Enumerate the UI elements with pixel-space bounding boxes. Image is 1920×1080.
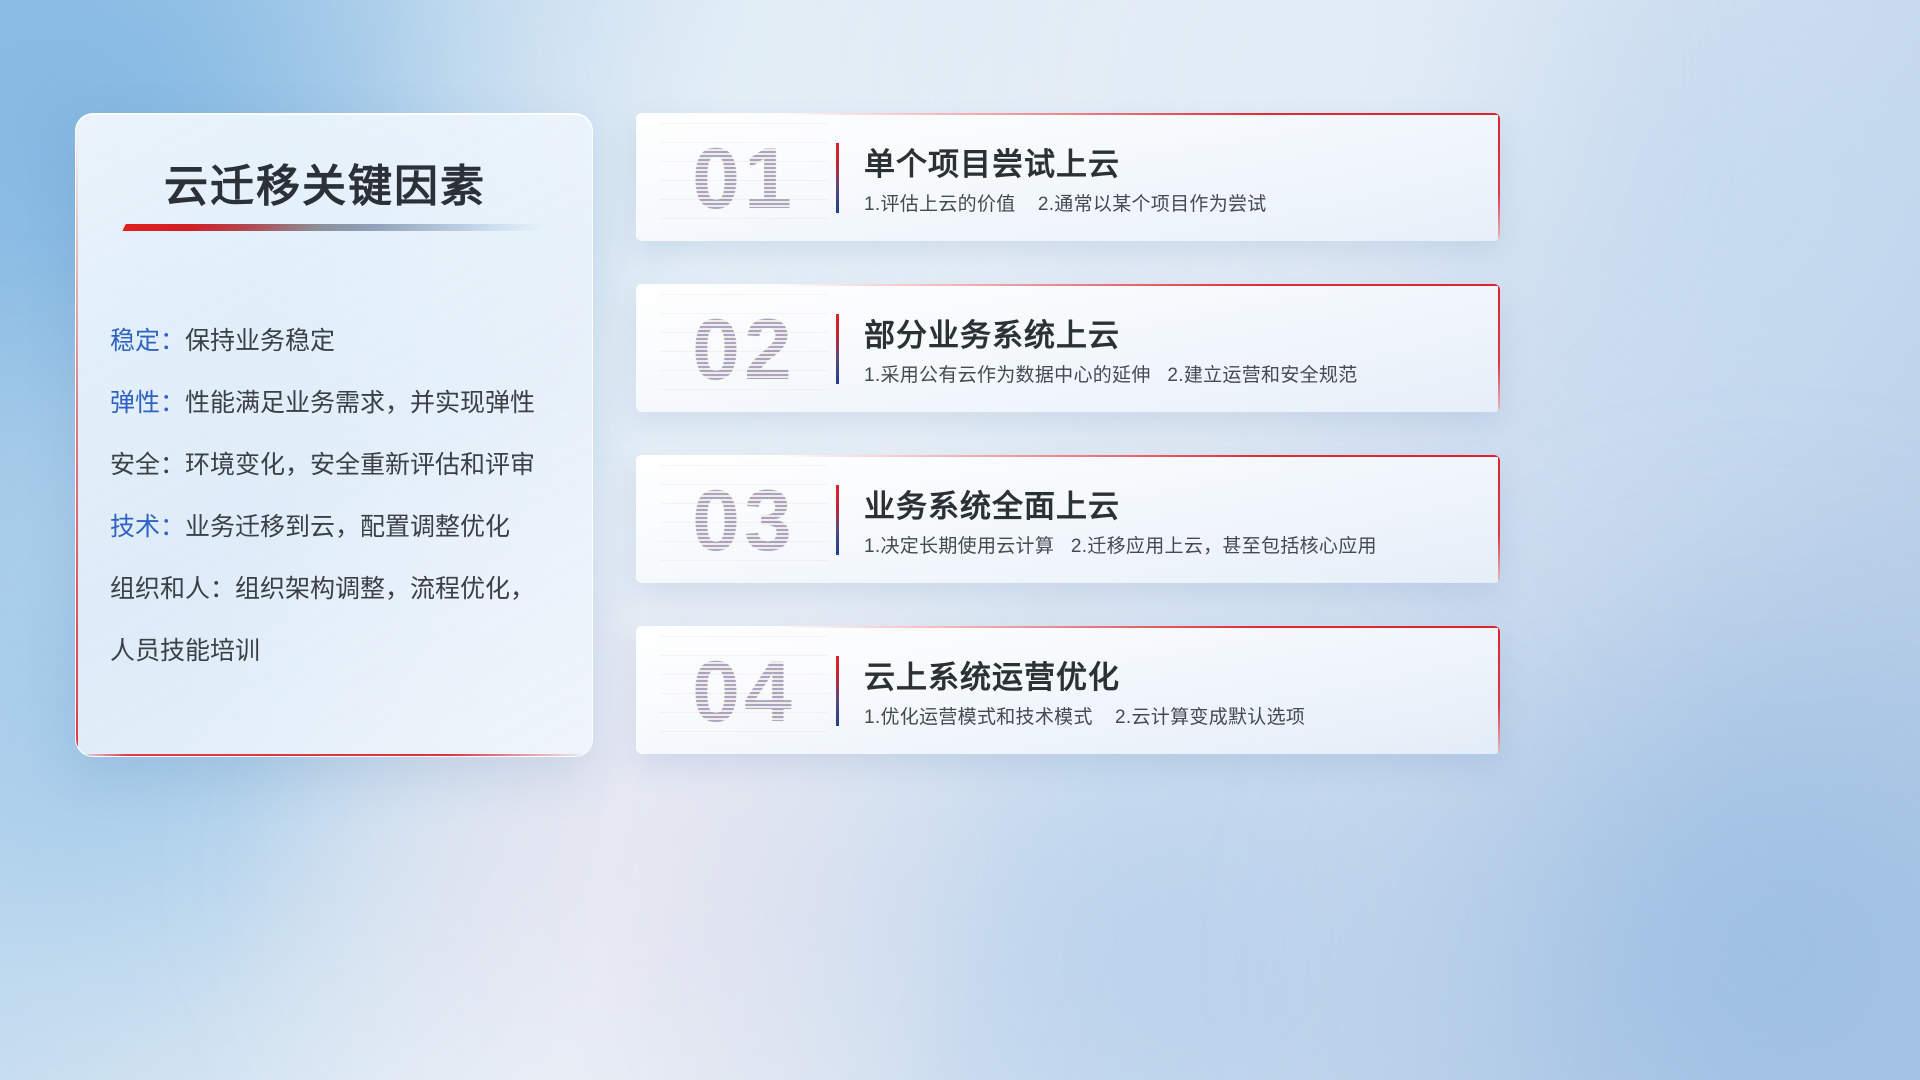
stage-description: 1.采用公有云作为数据中心的延伸 2.建立运营和安全规范 [864,360,1358,387]
title-underline-rule [122,224,547,231]
stage-card[interactable]: 01单个项目尝试上云1.评估上云的价值 2.通常以某个项目作为尝试 [636,113,1500,241]
card-right-accent [1498,113,1500,241]
key-factor-row: 稳定：保持业务稳定 [100,310,574,372]
key-factor-row: 弹性：性能满足业务需求，并实现弹性 [100,372,574,434]
stages-card-list: 01单个项目尝试上云1.评估上云的价值 2.通常以某个项目作为尝试02部分业务系… [636,113,1500,797]
stage-number-watermark: 03 [660,465,828,577]
stage-number-watermark: 04 [660,636,828,748]
card-divider-bar [836,314,839,384]
card-divider-bar [836,656,839,726]
key-factor-value: 性能满足业务需求，并实现弹性 [185,389,535,417]
key-factors-panel: 云迁移关键因素 稳定：保持业务稳定弹性：性能满足业务需求，并实现弹性安全：环境变… [75,113,593,757]
stage-description: 1.决定长期使用云计算 2.迁移应用上云，甚至包括核心应用 [864,531,1377,558]
card-top-accent [636,626,1500,628]
key-factor-label: 技术： [110,513,185,541]
key-factor-row: 技术：业务迁移到云，配置调整优化 [100,496,574,558]
card-left-highlight [636,457,637,583]
stage-title: 部分业务系统上云 [864,310,1120,355]
stage-number-text: 01 [660,123,828,235]
card-left-highlight [636,115,637,241]
key-factor-row: 人员技能培训 [100,620,574,682]
key-factor-label: 稳定： [110,327,185,355]
key-factor-value: 环境变化，安全重新评估和评审 [185,451,535,479]
card-left-highlight [636,286,637,412]
card-top-accent [636,113,1500,115]
card-top-accent [636,455,1500,457]
key-factor-row: 安全：环境变化，安全重新评估和评审 [100,434,574,496]
stage-description: 1.优化运营模式和技术模式 2.云计算变成默认选项 [864,702,1305,729]
stage-title: 业务系统全面上云 [864,481,1120,526]
stage-description: 1.评估上云的价值 2.通常以某个项目作为尝试 [864,189,1267,216]
card-top-accent [636,284,1500,286]
stage-card[interactable]: 03业务系统全面上云1.决定长期使用云计算 2.迁移应用上云，甚至包括核心应用 [636,455,1500,583]
panel-title: 云迁移关键因素 [164,150,486,214]
key-factor-value: 组织架构调整，流程优化， [235,575,535,603]
key-factor-row: 组织和人：组织架构调整，流程优化， [100,558,574,620]
key-factor-value: 业务迁移到云，配置调整优化 [185,513,510,541]
key-factor-label: 弹性： [110,389,185,417]
stage-number-text: 04 [660,636,828,748]
card-divider-bar [836,485,839,555]
stage-title: 单个项目尝试上云 [864,139,1120,184]
card-right-accent [1498,284,1500,412]
key-factor-label: 组织和人： [110,575,235,603]
stage-number-watermark: 01 [660,123,828,235]
key-factors-list: 稳定：保持业务稳定弹性：性能满足业务需求，并实现弹性安全：环境变化，安全重新评估… [100,310,574,682]
stage-number-text: 02 [660,294,828,406]
key-factor-value: 人员技能培训 [110,637,260,665]
card-left-highlight [636,628,637,754]
stage-card[interactable]: 02部分业务系统上云1.采用公有云作为数据中心的延伸 2.建立运营和安全规范 [636,284,1500,412]
stage-number-text: 03 [660,465,828,577]
card-divider-bar [836,143,839,213]
stage-number-watermark: 02 [660,294,828,406]
key-factor-value: 保持业务稳定 [185,327,335,355]
card-right-accent [1498,455,1500,583]
stage-title: 云上系统运营优化 [864,652,1120,697]
stage-card[interactable]: 04云上系统运营优化1.优化运营模式和技术模式 2.云计算变成默认选项 [636,626,1500,754]
card-right-accent [1498,626,1500,754]
key-factor-label: 安全： [110,451,185,479]
